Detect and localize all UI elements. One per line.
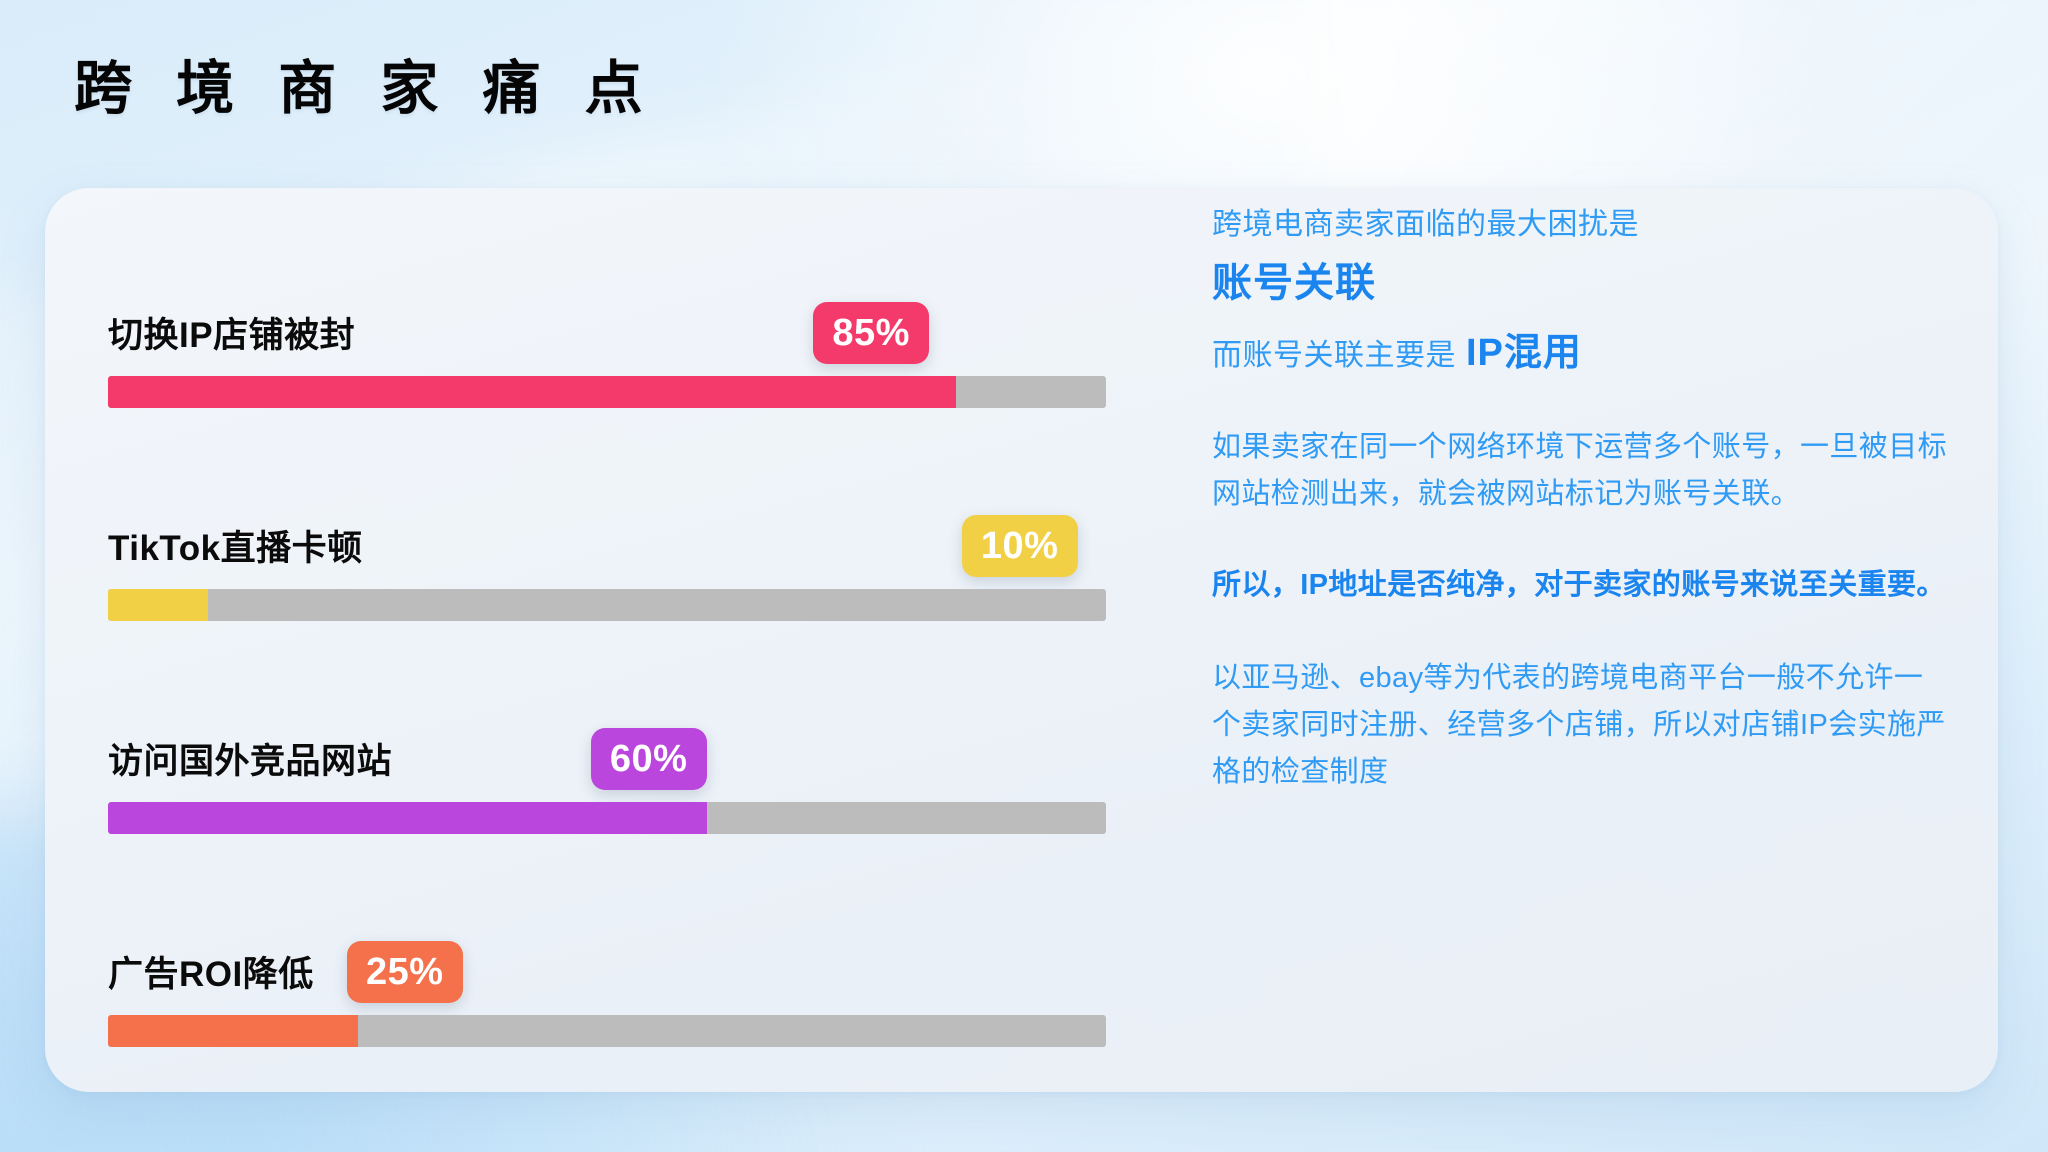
bar-row: 访问国外竞品网站 60%: [108, 694, 1168, 907]
bar-fill: [108, 802, 707, 834]
bar-row: 广告ROI降低 25%: [108, 907, 1168, 1120]
bar-value-badge: 60%: [591, 728, 707, 790]
bar-header: TikTok直播卡顿 10%: [108, 481, 1168, 577]
bar-row: 切换IP店铺被封 85%: [108, 268, 1168, 481]
explanation-panel: 跨境电商卖家面临的最大困扰是 账号关联 而账号关联主要是IP混用 如果卖家在同一…: [1212, 188, 1952, 796]
bar-fill: [108, 1015, 358, 1047]
bar-header: 广告ROI降低 25%: [108, 907, 1168, 1003]
paragraph-3: 以亚马逊、ebay等为代表的跨境电商平台一般不允许一个卖家同时注册、经营多个店铺…: [1212, 655, 1952, 796]
lead-mixed-highlight: IP混用: [1466, 332, 1582, 374]
lead-mixed-line: 而账号关联主要是IP混用: [1212, 325, 1952, 382]
bar-value-badge: 10%: [962, 515, 1078, 577]
bar-header: 访问国外竞品网站 60%: [108, 694, 1168, 790]
lead-line: 跨境电商卖家面临的最大困扰是: [1212, 202, 1952, 247]
paragraph-1: 如果卖家在同一个网络环境下运营多个账号，一旦被目标网站检测出来，就会被网站标记为…: [1212, 424, 1952, 518]
bar-label: 切换IP店铺被封: [108, 307, 355, 358]
bar-track: [108, 376, 1106, 408]
bar-track: [108, 589, 1106, 621]
bar-label: 广告ROI降低: [108, 946, 314, 997]
content-card: 切换IP店铺被封 85% TikTok直播卡顿 10% 访问国外竞品网站 60%: [45, 188, 1998, 1092]
bar-header: 切换IP店铺被封 85%: [108, 268, 1168, 364]
page-title: 跨 境 商 家 痛 点: [74, 56, 657, 123]
bar-track: [108, 1015, 1106, 1047]
bar-label: TikTok直播卡顿: [108, 520, 363, 571]
bar-track: [108, 802, 1106, 834]
bar-value-badge: 85%: [813, 302, 929, 364]
pain-point-bar-chart: 切换IP店铺被封 85% TikTok直播卡顿 10% 访问国外竞品网站 60%: [108, 268, 1168, 1120]
bar-fill: [108, 589, 208, 621]
lead-mixed-prefix: 而账号关联主要是: [1212, 339, 1456, 372]
bar-label: 访问国外竞品网站: [108, 733, 392, 784]
paragraph-2: 所以，IP地址是否纯净，对于卖家的账号来说至关重要。: [1212, 562, 1952, 609]
bar-value-badge: 25%: [347, 941, 463, 1003]
lead-keyword: 账号关联: [1212, 253, 1952, 313]
bar-fill: [108, 376, 956, 408]
bar-row: TikTok直播卡顿 10%: [108, 481, 1168, 694]
